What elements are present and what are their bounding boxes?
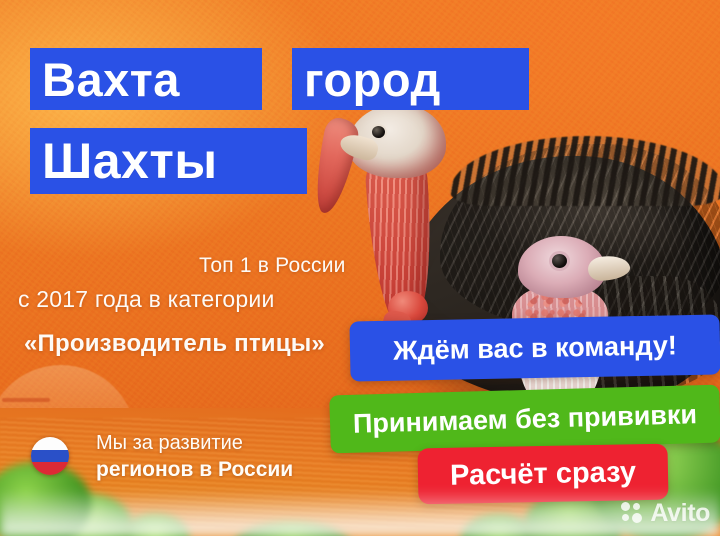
headline-word-vakhta: Вахта — [30, 48, 262, 110]
barn-accent-line — [2, 398, 50, 402]
cta-join-team[interactable]: Ждём вас в команду! — [349, 314, 720, 381]
turkey-right-eye — [552, 254, 567, 268]
headline-word-shakhty: Шахты — [30, 128, 307, 194]
regions-line-1: Мы за развитие — [96, 432, 243, 455]
russia-flag-icon — [31, 437, 69, 475]
flag-stripe-blue — [31, 450, 69, 463]
category-line: «Производитель птицы» — [24, 330, 325, 358]
cta-no-vaccine[interactable]: Принимаем без прививки — [329, 385, 720, 454]
turkey-left-eye — [372, 126, 385, 138]
turkey-feather-tips — [450, 136, 720, 206]
turkeys-photo — [300, 96, 720, 436]
avito-job-ad-banner: Вахта город Шахты Топ 1 в России с 2017 … — [0, 0, 720, 536]
rank-line: Топ 1 в России — [199, 254, 346, 278]
bottom-haze — [0, 490, 720, 536]
headline-word-gorod: город — [292, 48, 529, 110]
turkey-left-snood — [309, 116, 361, 217]
regions-line-2: регионов в России — [96, 458, 293, 482]
since-line: с 2017 года в категории — [18, 286, 275, 313]
